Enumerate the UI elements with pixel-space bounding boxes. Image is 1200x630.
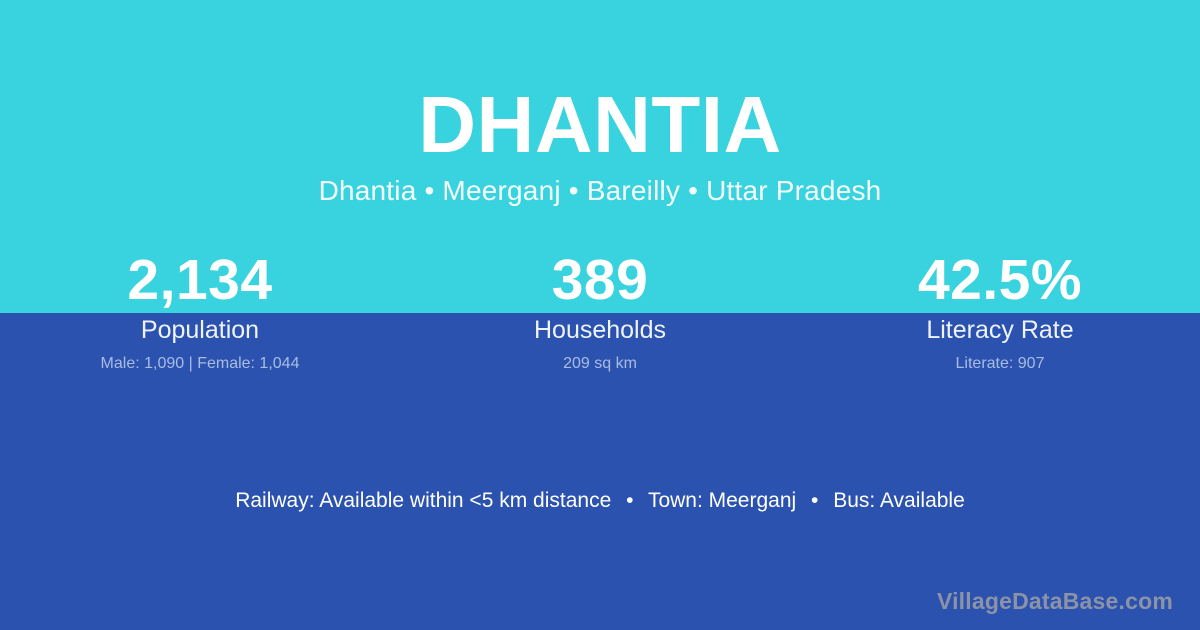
page-title: DHANTIA bbox=[0, 79, 1200, 171]
breadcrumb: Dhantia • Meerganj • Bareilly • Uttar Pr… bbox=[0, 173, 1200, 209]
village-summary-card: DHANTIA Dhantia • Meerganj • Bareilly • … bbox=[0, 0, 1200, 630]
facility-separator-2: • bbox=[802, 487, 827, 515]
stat-literacy-rate-label: Literacy Rate bbox=[800, 315, 1200, 345]
stat-population-sub: Male: 1,090 | Female: 1,044 bbox=[0, 354, 400, 374]
stat-households-sub: 209 sq km bbox=[400, 354, 800, 374]
stat-population: 2,134 Population Male: 1,090 | Female: 1… bbox=[0, 248, 400, 374]
facility-bus: Bus: Available bbox=[833, 489, 965, 512]
facilities-summary: Railway: Available within <5 km distance… bbox=[0, 487, 1200, 515]
stats-grid: 2,134 Population Male: 1,090 | Female: 1… bbox=[0, 248, 1200, 374]
stat-literacy-rate: 42.5% Literacy Rate Literate: 907 bbox=[800, 248, 1200, 374]
stat-literacy-rate-value: 42.5% bbox=[800, 248, 1200, 312]
stat-households-value: 389 bbox=[400, 248, 800, 312]
stat-literacy-rate-sub: Literate: 907 bbox=[800, 354, 1200, 374]
stat-population-value: 2,134 bbox=[0, 248, 400, 312]
facility-separator-1: • bbox=[617, 487, 642, 515]
stat-households: 389 Households 209 sq km bbox=[400, 248, 800, 374]
stat-population-label: Population bbox=[0, 315, 400, 345]
site-watermark: VillageDataBase.com bbox=[937, 586, 1173, 616]
stat-households-label: Households bbox=[400, 315, 800, 345]
facility-town: Town: Meerganj bbox=[648, 489, 796, 512]
card-header: DHANTIA Dhantia • Meerganj • Bareilly • … bbox=[0, 0, 1200, 209]
facility-railway: Railway: Available within <5 km distance bbox=[235, 489, 611, 512]
